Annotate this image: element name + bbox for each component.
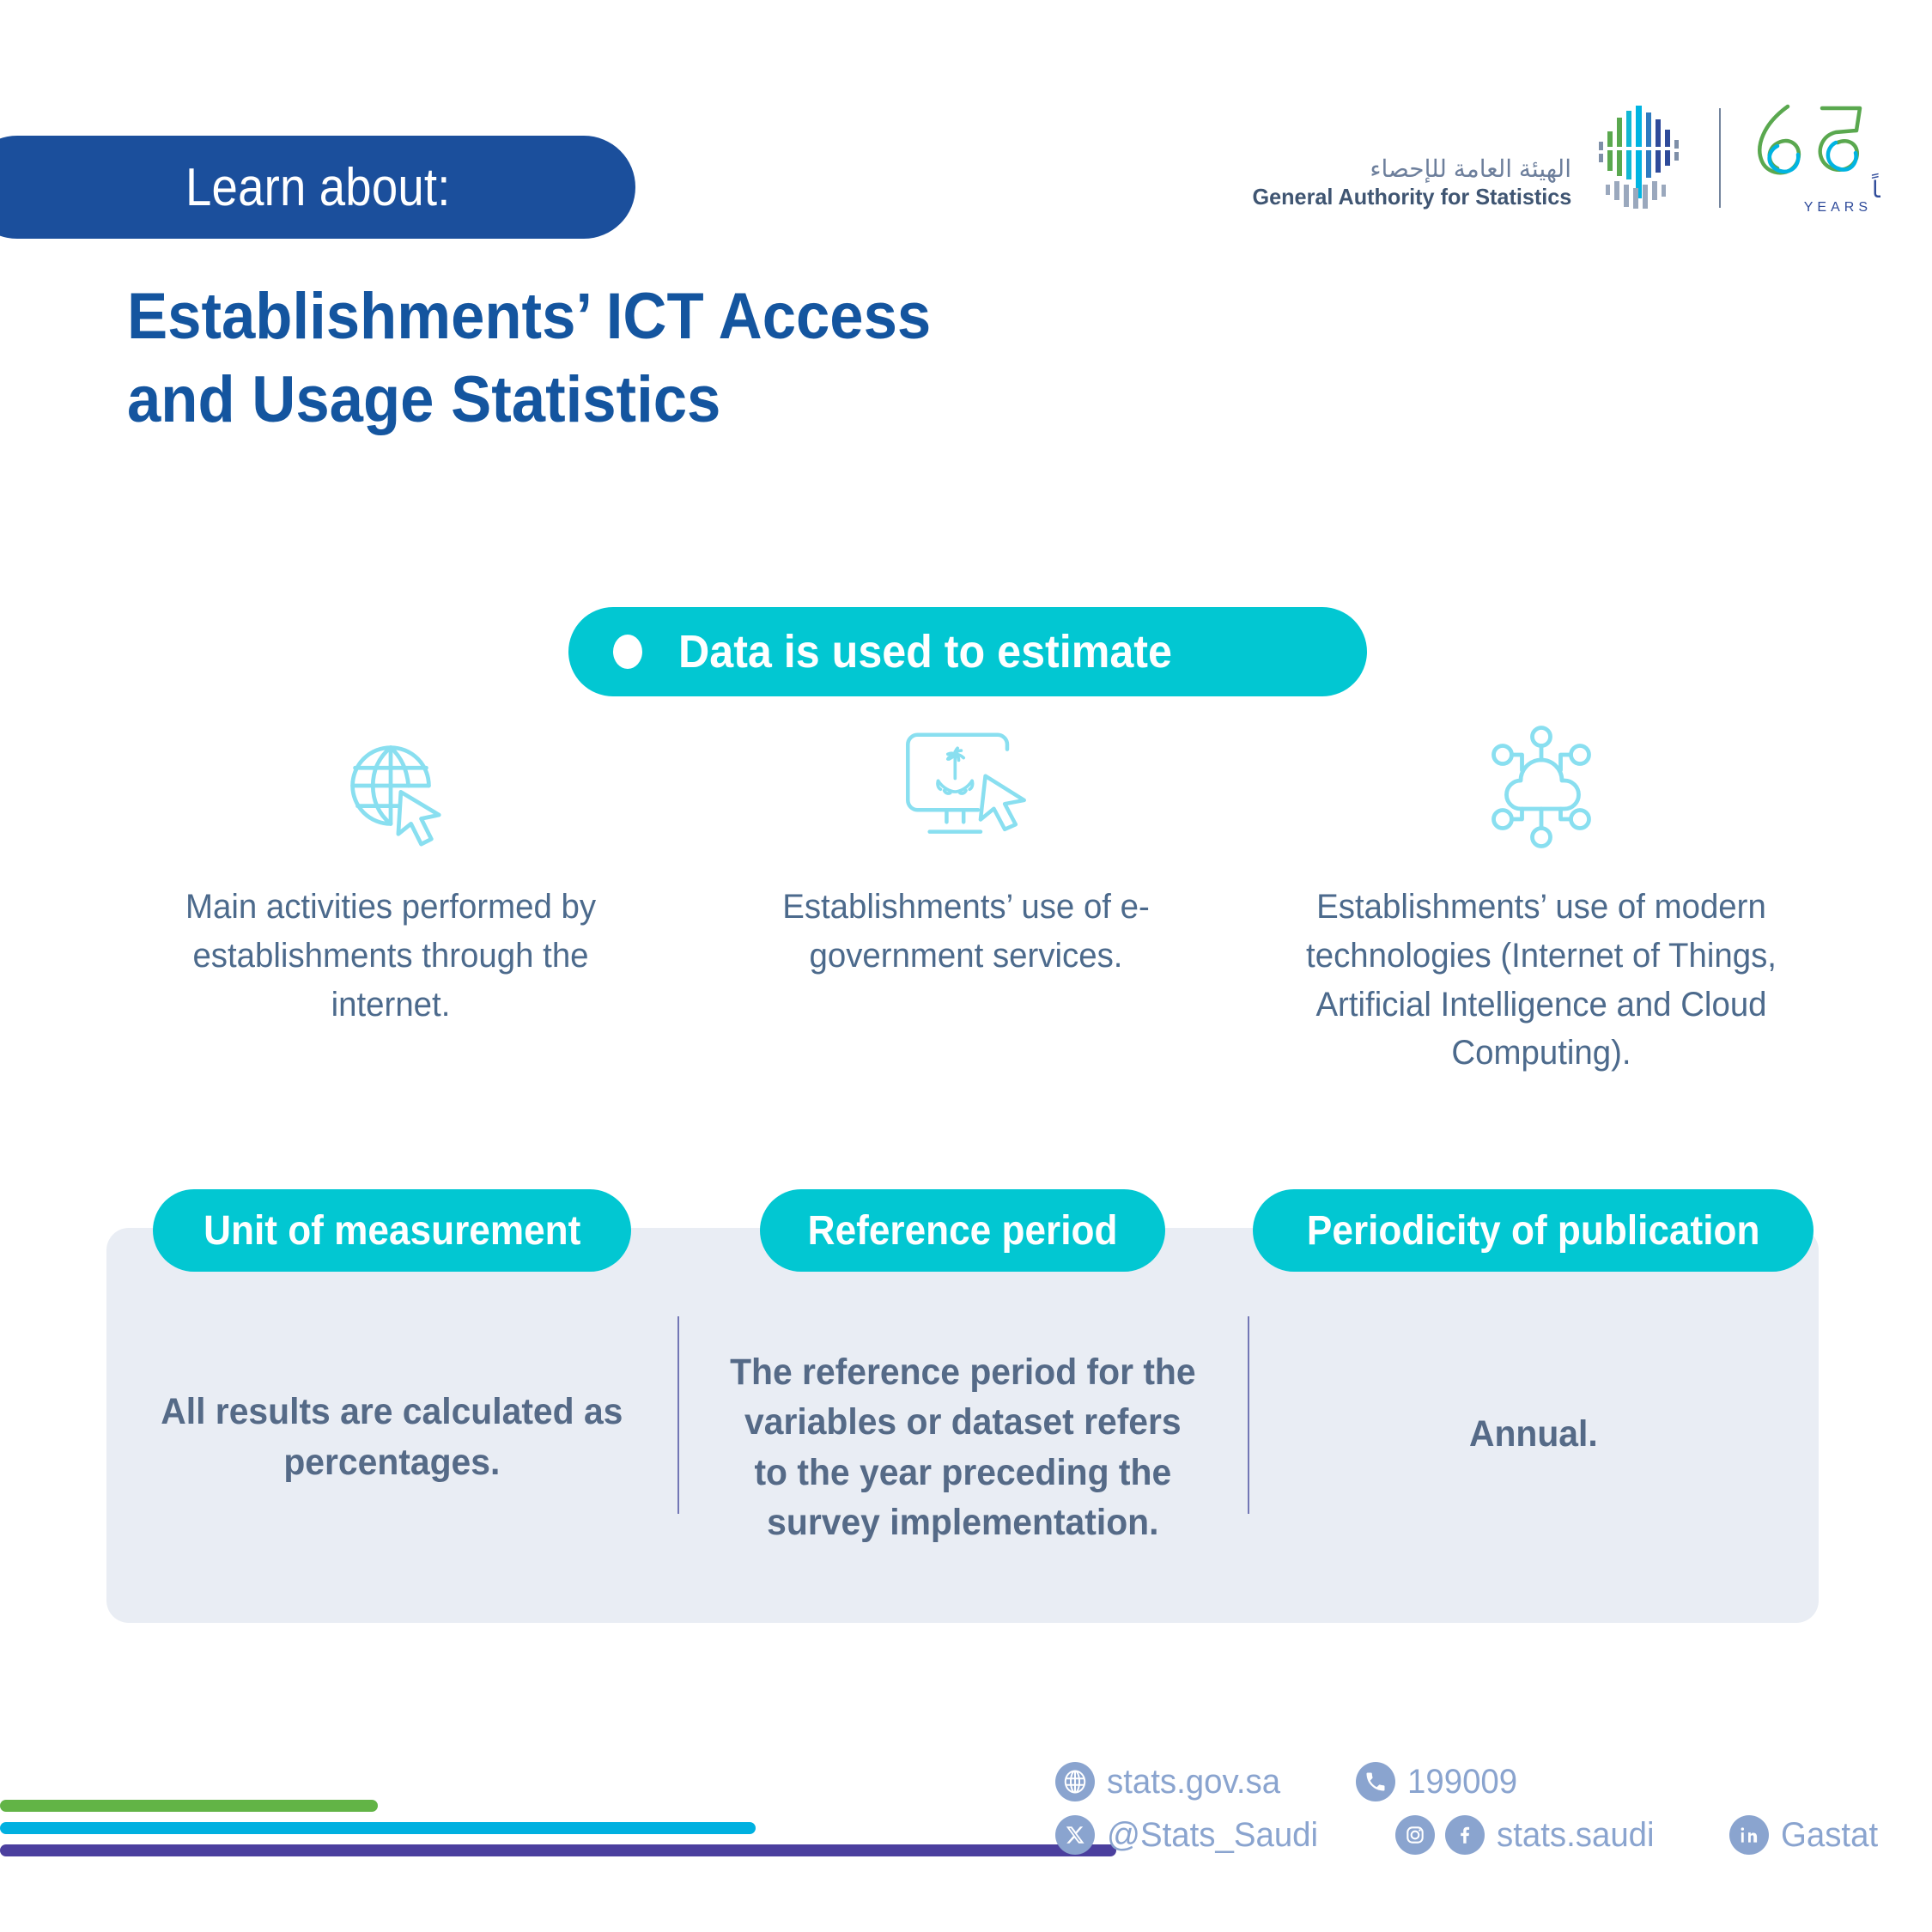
- cloud-network-icon: [1477, 721, 1606, 850]
- info-column-reference-period: Reference period The reference period fo…: [677, 1189, 1249, 1623]
- footer-contacts: stats.gov.sa 199009 @Stats_Saudi: [1055, 1762, 1882, 1855]
- info-pill-label: Periodicity of publication: [1307, 1207, 1760, 1255]
- estimate-item-egovernment: Establishments’ use of e-government serv…: [678, 721, 1254, 981]
- estimate-item-text: Establishments’ use of modern technologi…: [1290, 883, 1793, 1078]
- social-handle-contact[interactable]: stats.saudi: [1395, 1815, 1661, 1855]
- social-icon-pair: [1395, 1815, 1485, 1855]
- phone-icon: [1356, 1762, 1395, 1801]
- website-contact[interactable]: stats.gov.sa: [1055, 1762, 1287, 1801]
- website-label: stats.gov.sa: [1107, 1763, 1280, 1801]
- footer-line-green: [0, 1800, 378, 1812]
- logo-english-name: General Authority for Statistics: [1252, 184, 1571, 210]
- page-title: Establishments’ ICT Access and Usage Sta…: [127, 275, 1157, 442]
- svg-text:YEARS: YEARS: [1804, 200, 1872, 215]
- info-column-body: All results are calculated as percentage…: [106, 1272, 677, 1623]
- info-card-columns: Unit of measurement All results are calc…: [106, 1189, 1819, 1623]
- svg-text:عـــامـاً: عـــامـاً: [1871, 173, 1880, 204]
- info-column-periodicity-of-publication: Periodicity of publication Annual.: [1248, 1189, 1819, 1623]
- globe-cursor-icon: [327, 721, 454, 850]
- instagram-icon: [1395, 1815, 1435, 1855]
- anniversary-65-years-mark: عـــامـاً YEARS: [1743, 101, 1880, 215]
- logo-text: الهيئة العامة للإحصاء General Authority …: [1242, 102, 1571, 214]
- globe-icon: [1055, 1762, 1095, 1801]
- gastat-logo: الهيئة العامة للإحصاء General Authority …: [1242, 101, 1880, 215]
- twitter-x-contact[interactable]: @Stats_Saudi: [1055, 1815, 1327, 1855]
- page-title-line-2: and Usage Statistics: [127, 358, 1085, 441]
- linkedin-contact[interactable]: Gastat: [1729, 1815, 1882, 1855]
- estimate-items: Main activities performed by establishme…: [103, 721, 1829, 1078]
- facebook-icon: [1445, 1815, 1485, 1855]
- monitor-saudi-emblem-cursor-icon: [898, 721, 1034, 850]
- linkedin-handle-label: Gastat: [1781, 1816, 1878, 1855]
- logo-divider: [1719, 108, 1721, 208]
- footer-line-purple: [0, 1844, 1116, 1856]
- linkedin-icon: [1729, 1815, 1769, 1855]
- learn-about-pill: Learn about:: [0, 136, 635, 239]
- phone-contact[interactable]: 199009: [1356, 1762, 1522, 1801]
- estimate-item-internet-activities: Main activities performed by establishme…: [103, 721, 678, 1029]
- info-column-body: Annual.: [1428, 1272, 1639, 1623]
- social-handle-label: stats.saudi: [1497, 1816, 1655, 1855]
- twitter-handle-label: @Stats_Saudi: [1107, 1816, 1318, 1855]
- data-used-to-estimate-banner: Data is used to estimate: [568, 607, 1367, 696]
- infographic-page: Learn about: Establishments’ ICT Access …: [0, 0, 1932, 1932]
- gastat-barcode-mark: [1594, 102, 1697, 214]
- info-column-unit-of-measurement: Unit of measurement All results are calc…: [106, 1189, 677, 1623]
- banner-label: Data is used to estimate: [678, 625, 1172, 678]
- reference-period-pill: Reference period: [760, 1189, 1165, 1272]
- info-pill-label: Unit of measurement: [204, 1207, 580, 1255]
- bullet-dot-icon: [613, 635, 642, 669]
- page-title-line-1: Establishments’ ICT Access: [127, 275, 1085, 358]
- estimate-item-modern-technologies: Establishments’ use of modern technologi…: [1254, 721, 1829, 1078]
- footer-line-cyan: [0, 1822, 756, 1834]
- unit-of-measurement-pill: Unit of measurement: [153, 1189, 631, 1272]
- estimate-item-text: Main activities performed by establishme…: [143, 883, 638, 1029]
- estimate-item-text: Establishments’ use of e-government serv…: [719, 883, 1213, 981]
- learn-about-label: Learn about:: [185, 157, 451, 218]
- contact-row-social: @Stats_Saudi: [1055, 1815, 1882, 1855]
- phone-label: 199009: [1407, 1763, 1517, 1801]
- info-body-text: The reference period for the variables o…: [727, 1347, 1198, 1548]
- info-pill-label: Reference period: [808, 1207, 1118, 1255]
- periodicity-of-publication-pill: Periodicity of publication: [1253, 1189, 1814, 1272]
- logo-arabic-name: الهيئة العامة للإحصاء: [1370, 154, 1571, 184]
- info-column-body: The reference period for the variables o…: [677, 1272, 1249, 1623]
- x-twitter-icon: [1055, 1815, 1095, 1855]
- info-body-text: All results are calculated as percentage…: [156, 1387, 627, 1487]
- contact-row-primary: stats.gov.sa 199009: [1055, 1762, 1522, 1801]
- info-body-text: Annual.: [1469, 1409, 1598, 1459]
